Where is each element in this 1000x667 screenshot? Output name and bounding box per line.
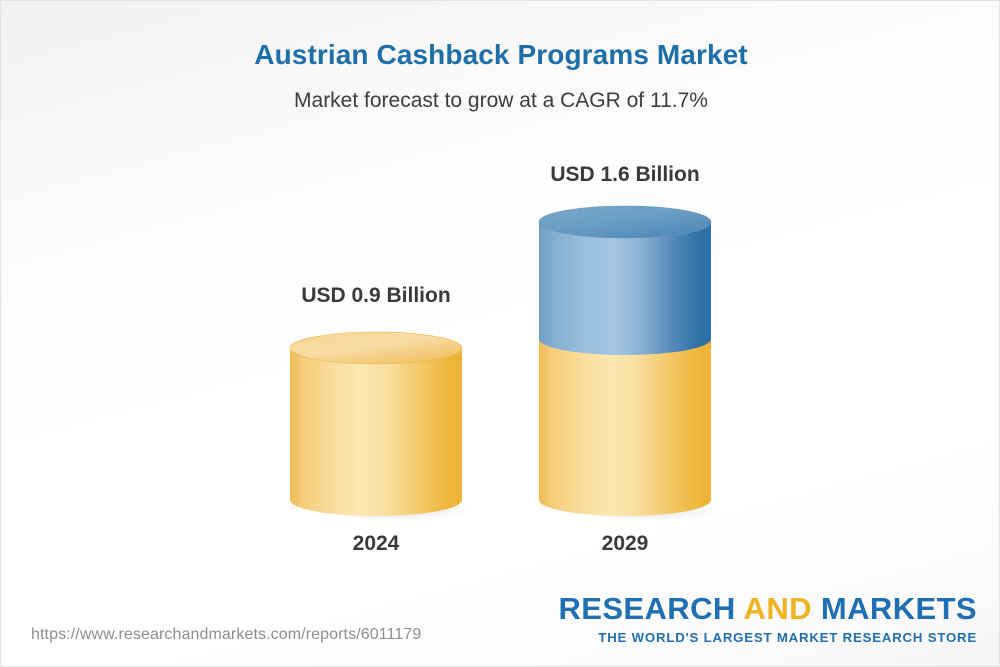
bar-2024-body — [290, 348, 462, 516]
infographic-canvas: Austrian Cashback Programs Market Market… — [0, 0, 1000, 667]
brand-word-research: RESEARCH — [558, 591, 735, 626]
category-label-2029: 2029 — [524, 532, 726, 556]
bar-2029-svg — [539, 206, 711, 534]
bar-2029-upper-segment — [539, 222, 711, 355]
source-url[interactable]: https://www.researchandmarkets.com/repor… — [31, 626, 421, 644]
brand-word-markets: MARKETS — [821, 591, 977, 626]
bar-cylinder-2029 — [539, 206, 711, 514]
value-label-2029: USD 1.6 Billion — [524, 163, 726, 187]
value-label-2024: USD 0.9 Billion — [275, 284, 477, 308]
bar-2029-lower-segment — [539, 339, 711, 516]
chart-plot-area: USD 0.9 Billion USD 1.6 Billion 2024 202… — [1, 1, 1000, 601]
category-label-2024: 2024 — [275, 532, 477, 556]
brand-logo[interactable]: RESEARCH AND MARKETS THE WORLD'S LARGEST… — [558, 593, 977, 644]
brand-tagline: THE WORLD'S LARGEST MARKET RESEARCH STOR… — [558, 631, 977, 644]
bar-2024-top-cap — [290, 332, 462, 364]
brand-word-and: AND — [744, 591, 812, 626]
bar-2024-svg — [290, 334, 462, 534]
bar-2029-top-cap — [539, 206, 711, 238]
brand-logo-wordmark: RESEARCH AND MARKETS — [558, 593, 977, 624]
bar-cylinder-2024 — [290, 334, 462, 514]
